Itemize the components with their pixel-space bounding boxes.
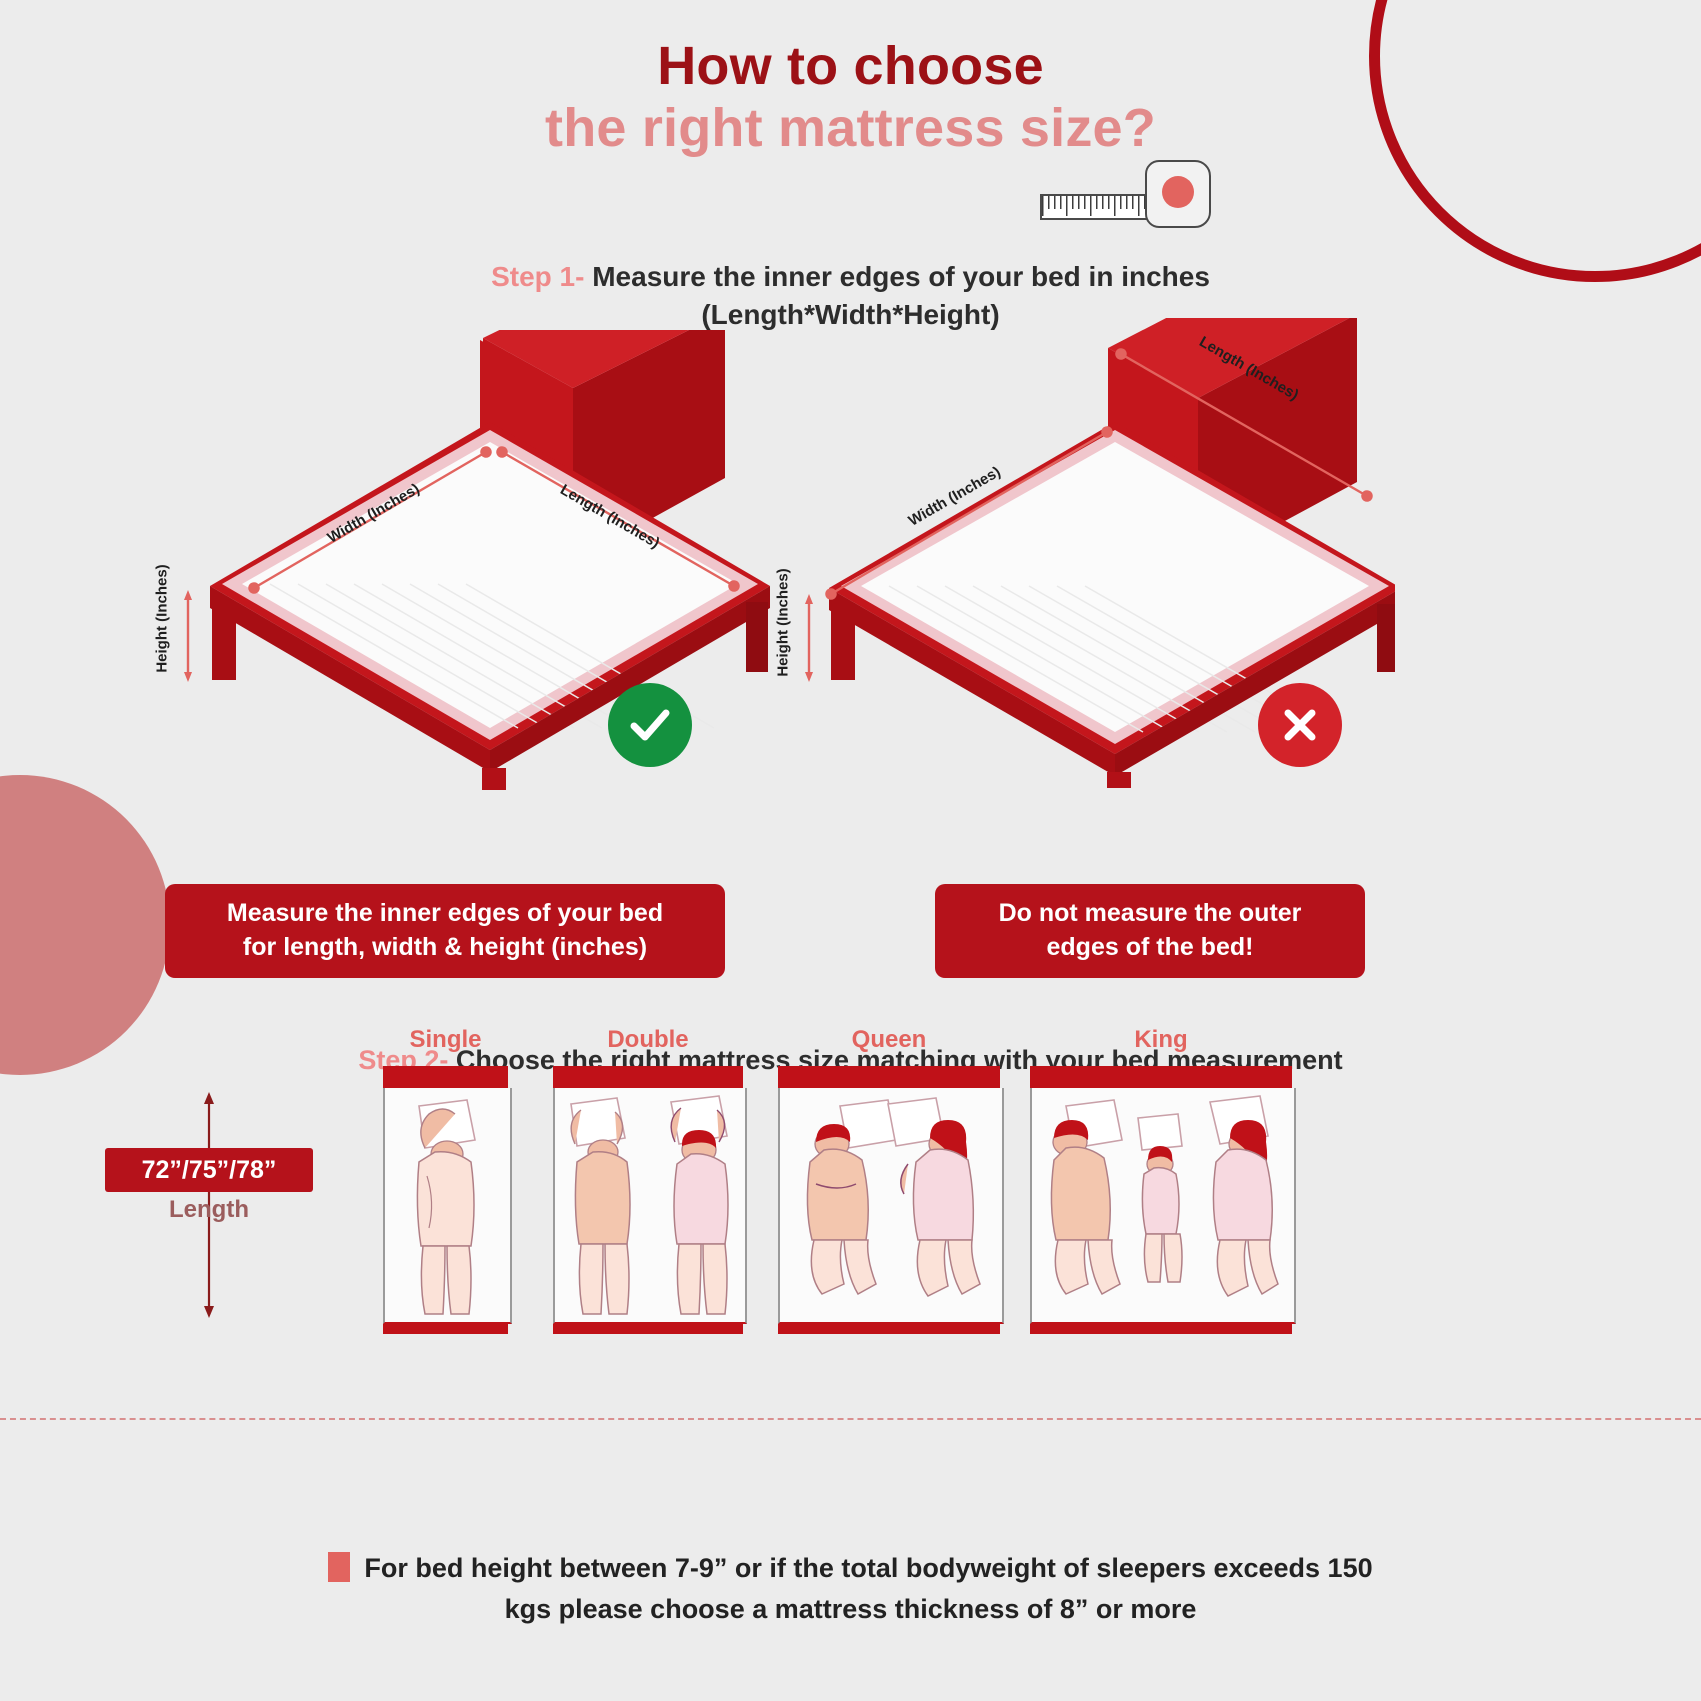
infographic-canvas: How to choose the right mattress size? S… [0,0,1701,1701]
card-single-title: Single [383,1026,508,1054]
single-sleeper-illustration [385,1088,506,1320]
page-title: How to choose the right mattress size? [0,38,1701,162]
banner-do-measure-inner: Measure the inner edges of your bed for … [165,884,725,978]
check-icon-badge [608,683,692,767]
step-1-text-line-1: Measure the inner edges of your bed in i… [592,261,1210,292]
card-queen-body [778,1088,1004,1324]
card-single[interactable]: Single [383,1066,508,1324]
double-sleepers-illustration [555,1088,741,1320]
card-double-foot [553,1324,743,1334]
king-sleepers-illustration [1032,1088,1290,1320]
tape-center-dot [1162,176,1194,208]
footer-line-1: For bed height between 7-9” or if the to… [364,1553,1372,1583]
card-king-body [1030,1088,1296,1324]
step-1-tag: Step 1- [491,261,584,292]
card-single-foot [383,1324,508,1334]
card-king-sleepers [1032,1088,1294,1322]
card-queen-title: Queen [778,1026,1000,1054]
queen-sleepers-illustration [780,1088,998,1320]
card-queen-headboard [778,1066,1000,1088]
footer-note: For bed height between 7-9” or if the to… [0,1548,1701,1629]
card-double-title: Double [553,1026,743,1054]
cross-icon-badge [1258,683,1342,767]
card-double-body [553,1088,747,1324]
card-single-sleepers [385,1088,510,1322]
bed-right-height-label: Height (Inches) [775,568,792,676]
card-queen-foot [778,1324,1000,1334]
mattress-size-cards: Single [0,1024,1701,1454]
card-double-sleepers [555,1088,745,1322]
cross-icon [1279,704,1321,746]
card-double-headboard [553,1066,743,1088]
card-queen-sleepers [780,1088,1002,1322]
check-icon [627,702,673,748]
card-king[interactable]: King [1030,1066,1292,1324]
card-king-foot [1030,1324,1292,1334]
banner-left-line-2: for length, width & height (inches) [227,931,663,965]
card-single-body [383,1088,512,1324]
card-king-title: King [1030,1026,1292,1054]
banner-right-line-1: Do not measure the outer [999,897,1302,931]
bed-left-height-label: Height (Inches) [154,564,171,672]
card-queen[interactable]: Queen [778,1066,1000,1324]
footer-line-2: kgs please choose a mattress thickness o… [0,1589,1701,1630]
card-double[interactable]: Double [553,1066,743,1324]
banner-do-not-measure-outer: Do not measure the outer edges of the be… [935,884,1365,978]
tape-ticks-large [1042,196,1156,216]
card-single-headboard [383,1066,508,1088]
title-line-2: the right mattress size? [0,95,1701,163]
banner-left-line-1: Measure the inner edges of your bed [227,897,663,931]
measuring-tape-icon [1040,160,1210,230]
pink-square-icon [328,1552,350,1582]
card-king-headboard [1030,1066,1292,1088]
title-line-1: How to choose [0,38,1701,95]
banner-right-line-2: edges of the bed! [999,931,1302,965]
